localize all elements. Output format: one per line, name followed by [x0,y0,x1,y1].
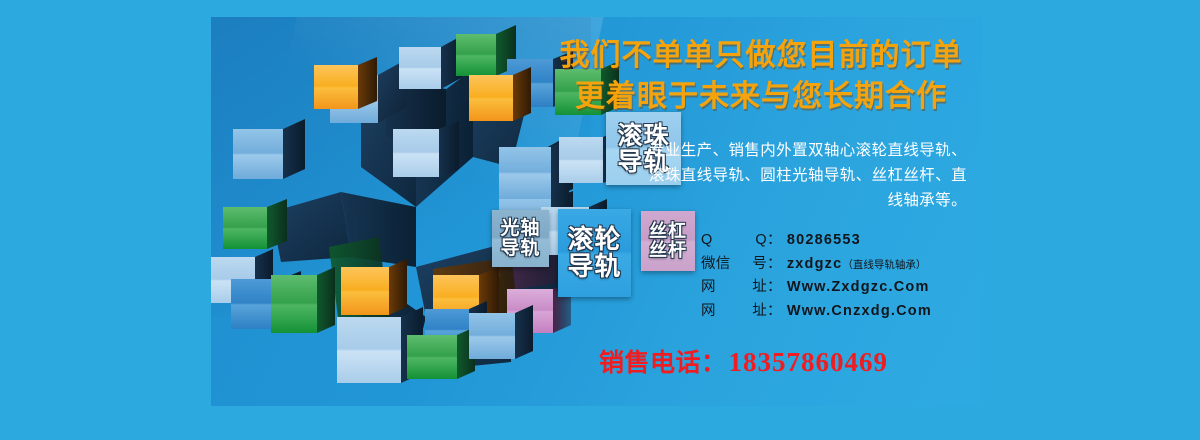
contact-label-wechat-b: 号 [752,253,767,276]
banner-copy-column: 我们不单单只做您目前的订单 更着眼于未来与您长期合作 专业生产、销售内外置双轴心… [551,35,971,395]
contact-value-website-1[interactable]: Www.Zxdgzc.Com [787,276,930,299]
contact-colon-website-2: ： [767,300,782,323]
description-line-3: 线轴承等。 [579,188,967,213]
contact-row-website-2: 网 址 ： Www.Cnzxdg.Com [701,300,971,323]
contact-label-wechat-a: 微信 [701,253,731,276]
contact-label-qq: Q Q [701,229,767,252]
contact-label-website-2: 网 址 [701,300,767,323]
contact-block: Q Q ： 80286553 微信 号 ： zxdgzc （直线导轨轴承） [551,229,971,323]
promo-banner: 滚珠 导轨 光轴 导轨 滚轮 导轨 丝杠 丝杆 我们不单单只做您目前的订单 更着… [211,17,982,406]
contact-value-website-2[interactable]: Www.Cnzxdg.Com [787,300,932,323]
headline-line-1: 我们不单单只做您目前的订单 [551,35,971,76]
headline-line-2: 更着眼于未来与您长期合作 [551,76,971,117]
contact-row-website-1: 网 址 ： Www.Zxdgzc.Com [701,276,971,299]
contact-colon-wechat: ： [767,253,782,276]
contact-label-qq-a: Q [701,229,713,252]
contact-colon-qq: ： [767,229,782,252]
contact-note-wechat: （直线导轨轴承） [842,257,926,274]
product-chip-guangzhou: 光轴 导轨 [492,210,549,267]
contact-label-qq-b: Q [755,229,767,252]
contact-value-qq[interactable]: 80286553 [787,229,861,252]
description-line-1: 专业生产、销售内外置双轴心滚轮直线导轨、 [579,138,967,163]
contact-label-website-1: 网 址 [701,276,767,299]
product-chip-guangzhou-line1: 光轴 [500,219,540,239]
contact-label-website-2-a: 网 [701,300,716,323]
description-text: 专业生产、销售内外置双轴心滚轮直线导轨、 滚珠直线导轨、圆柱光轴导轨、丝杠丝杆、… [551,138,971,213]
contact-label-wechat: 微信 号 [701,253,767,276]
contact-row-wechat: 微信 号 ： zxdgzc （直线导轨轴承） [701,253,971,276]
contact-label-website-2-b: 址 [752,300,767,323]
contact-colon-website-1: ： [767,276,782,299]
sales-phone-number[interactable]: 18357860469 [729,347,889,378]
headline: 我们不单单只做您目前的订单 更着眼于未来与您长期合作 [551,35,971,118]
description-line-2: 滚珠直线导轨、圆柱光轴导轨、丝杠丝杆、直 [579,163,967,188]
sales-phone-label: 销售电话： [599,343,727,379]
contact-value-wechat[interactable]: zxdgzc [787,253,843,276]
contact-row-qq: Q Q ： 80286553 [701,229,971,252]
product-chip-guangzhou-line2: 导轨 [500,239,540,259]
banner-page: 滚珠 导轨 光轴 导轨 滚轮 导轨 丝杠 丝杆 我们不单单只做您目前的订单 更着… [0,0,1200,440]
contact-label-website-1-a: 网 [701,276,716,299]
contact-label-website-1-b: 址 [752,276,767,299]
sales-phone[interactable]: 销售电话： 18357860469 [551,343,971,379]
